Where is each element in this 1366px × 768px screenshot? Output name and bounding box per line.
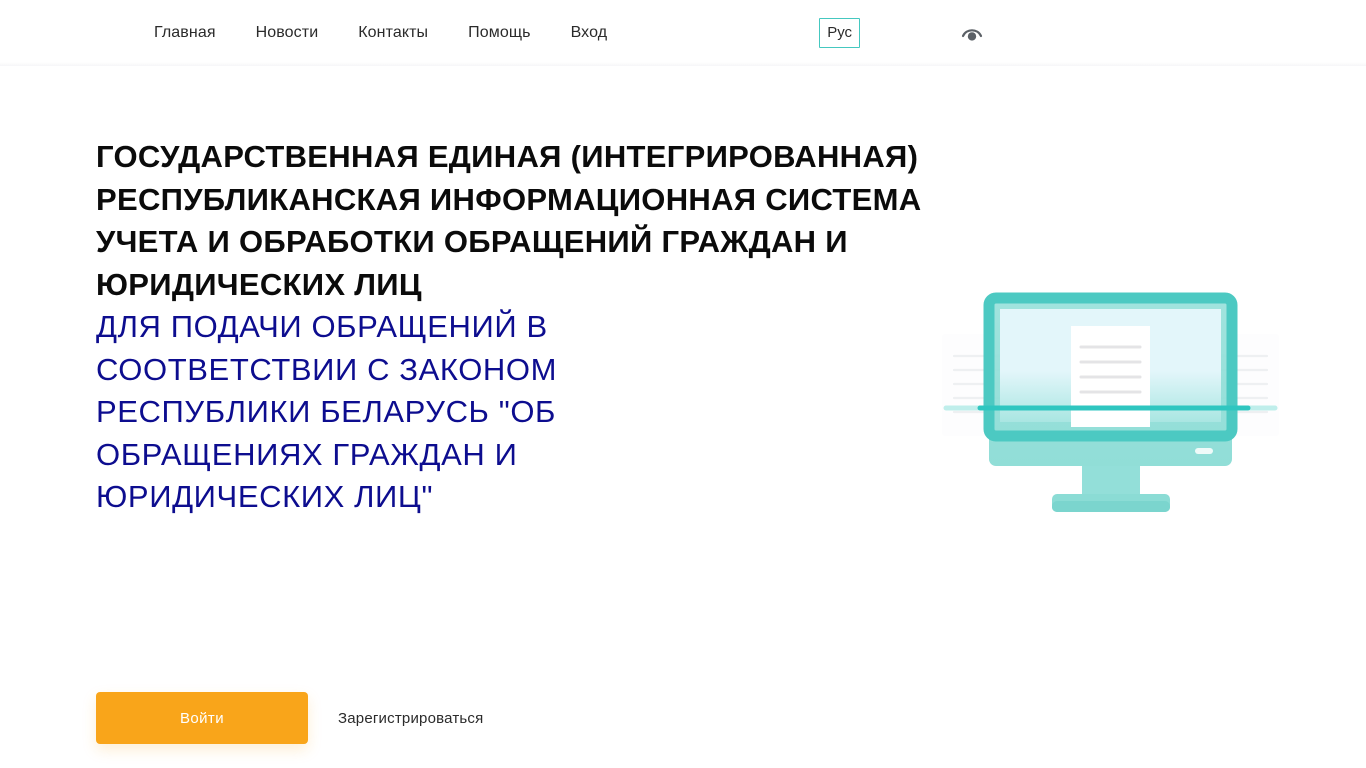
nav-item-news[interactable]: Новости: [256, 25, 319, 41]
hero-copy: ГОСУДАРСТВЕННАЯ ЕДИНАЯ (ИНТЕГРИРОВАННАЯ)…: [96, 136, 926, 519]
hero-section: ГОСУДАРСТВЕННАЯ ЕДИНАЯ (ИНТЕГРИРОВАННАЯ)…: [0, 66, 1366, 768]
login-button[interactable]: Войти: [96, 692, 308, 744]
language-switch-button[interactable]: Рус: [819, 18, 860, 48]
screen-document: [1071, 326, 1150, 427]
nav-item-contacts[interactable]: Контакты: [358, 25, 428, 41]
nav-item-login[interactable]: Вход: [571, 25, 608, 41]
accessibility-toggle-button[interactable]: [955, 16, 989, 50]
main-navigation: Главная Новости Контакты Помощь Вход: [154, 25, 607, 41]
site-header: Главная Новости Контакты Помощь Вход Рус: [0, 0, 1366, 66]
power-indicator: [1195, 448, 1213, 454]
monitor-stand: [1052, 466, 1170, 512]
register-link[interactable]: Зарегистрироваться: [336, 706, 485, 731]
page-subtitle: ДЛЯ ПОДАЧИ ОБРАЩЕНИЙ В СООТВЕТСТВИИ С ЗА…: [96, 306, 716, 519]
nav-item-home[interactable]: Главная: [154, 25, 216, 41]
header-utilities: Рус: [819, 16, 989, 50]
monitor-document-illustration: [938, 288, 1283, 528]
eye-icon: [960, 25, 984, 41]
page-title: ГОСУДАРСТВЕННАЯ ЕДИНАЯ (ИНТЕГРИРОВАННАЯ)…: [96, 136, 926, 306]
nav-item-help[interactable]: Помощь: [468, 25, 530, 41]
hero-actions: Войти Зарегистрироваться: [96, 692, 485, 744]
